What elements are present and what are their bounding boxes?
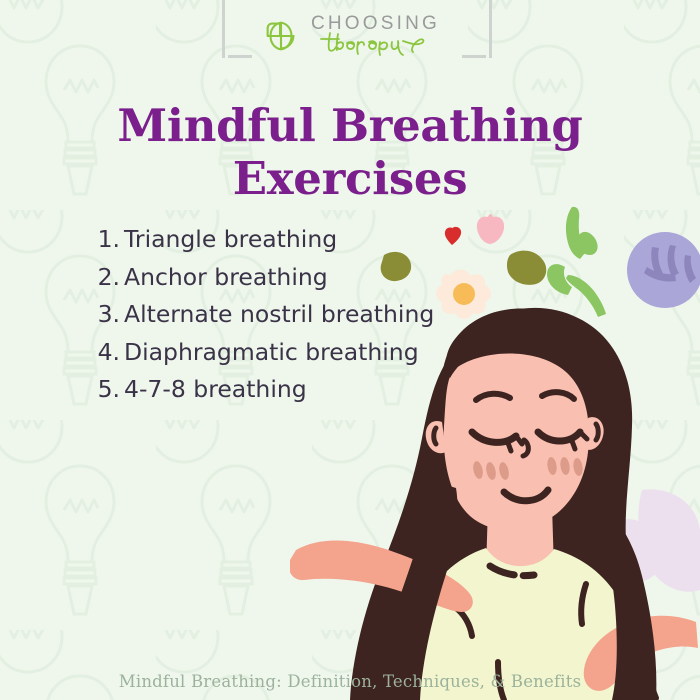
list-item-number: 3. (88, 303, 124, 327)
leaf-logo-icon (260, 15, 302, 57)
pink-tulip-icon (477, 214, 504, 244)
list-item: 1. Triangle breathing (88, 228, 434, 252)
heart-icon (445, 227, 461, 245)
brand-name-script (317, 31, 429, 57)
title-line-1: Mindful Breathing (0, 100, 700, 153)
poster-canvas: CHOOSING Mindful Breathing Exercises 1. … (0, 0, 700, 700)
ear-detail-left (434, 428, 436, 444)
list-item-label: Triangle breathing (124, 228, 337, 252)
page-title: Mindful Breathing Exercises (0, 100, 700, 205)
list-item-number: 2. (88, 266, 124, 290)
blush-left (472, 460, 511, 480)
blush-right (546, 456, 583, 476)
brand-logo[interactable]: CHOOSING (0, 14, 700, 57)
list-item-number: 1. (88, 228, 124, 252)
footer-caption: Mindful Breathing: Definition, Technique… (0, 672, 700, 691)
ear-detail-right (596, 424, 598, 440)
meditating-woman-illustration (290, 250, 700, 700)
list-item-number: 5. (88, 378, 124, 402)
title-line-2: Exercises (0, 153, 700, 206)
list-item-number: 4. (88, 341, 124, 365)
list-item-label: 4-7-8 breathing (124, 378, 307, 402)
